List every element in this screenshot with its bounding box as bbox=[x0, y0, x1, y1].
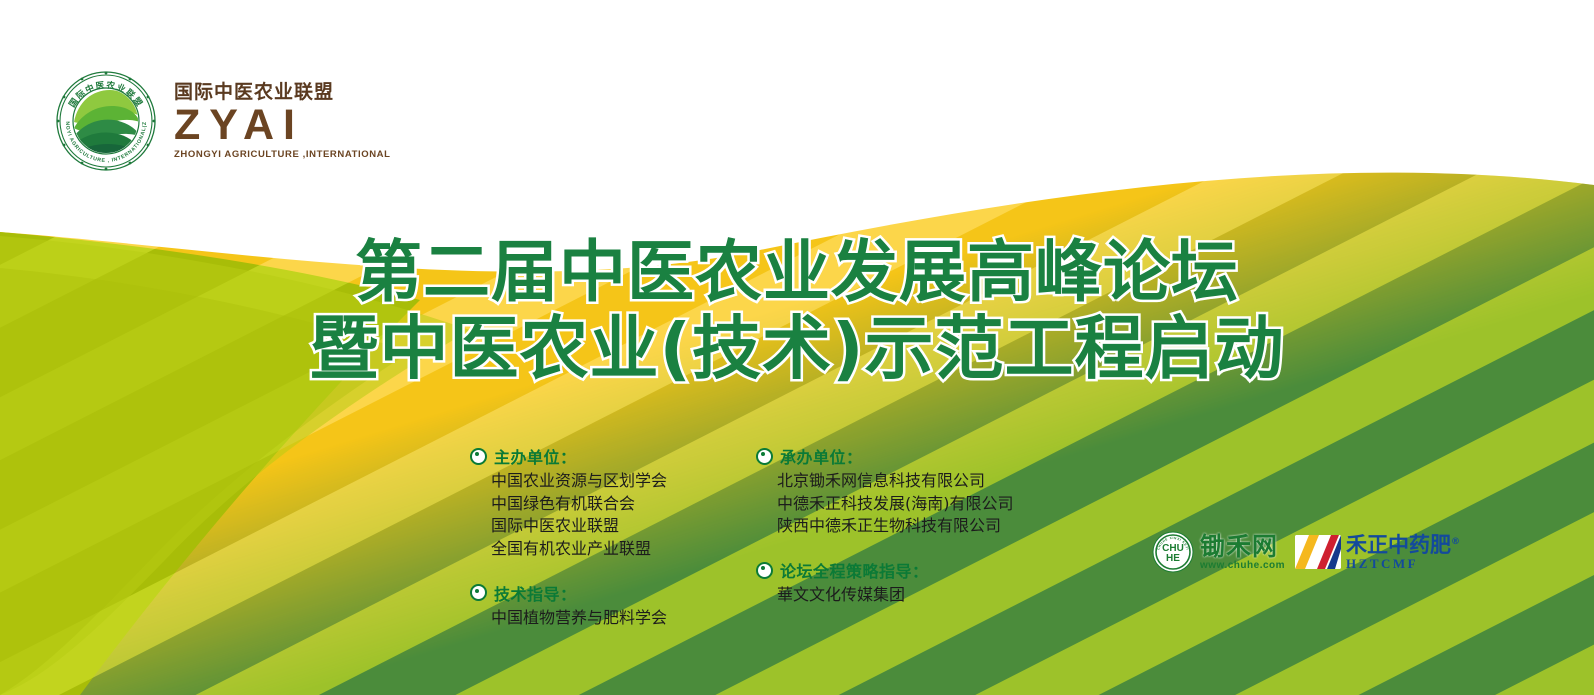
org-name-en: ZHONGYI AGRICULTURE ,INTERNATIONAL bbox=[174, 150, 391, 160]
credit-group-strategic-guidance: 论坛全程策略指导： 華文文化传媒集团 bbox=[756, 558, 1046, 607]
bullet-icon bbox=[470, 584, 487, 601]
credit-heading-row: 承办单位： bbox=[756, 444, 1046, 468]
list-item: 全国有机农业产业联盟 bbox=[491, 538, 720, 561]
org-name-cn: 国际中医农业联盟 bbox=[174, 83, 391, 102]
credit-item-list: 華文文化传媒集团 bbox=[756, 584, 1046, 607]
list-item: 中国植物营养与肥料学会 bbox=[491, 607, 720, 630]
credit-item-list: 北京锄禾网信息科技有限公司 中德禾正科技发展(海南)有限公司 陕西中德禾正生物科… bbox=[756, 470, 1046, 538]
hztcmf-wordmark: 禾正中药肥® HZTCMF bbox=[1346, 535, 1460, 570]
sponsor-logo-row: CHU HE CHUHE XINXI KEJI 锄禾网 www.chuhe.co… bbox=[1152, 529, 1516, 575]
credit-heading-row: 技术指导： bbox=[470, 581, 720, 605]
bullet-icon bbox=[756, 448, 773, 465]
organization-wordmark: 国际中医农业联盟 ZYAI ZHONGYI AGRICULTURE ,INTER… bbox=[174, 83, 391, 159]
credit-heading-row: 主办单位： bbox=[470, 444, 720, 468]
registered-mark: ® bbox=[1451, 537, 1460, 547]
list-item: 国际中医农业联盟 bbox=[491, 515, 720, 538]
chuhe-circular-logo-icon: CHU HE CHUHE XINXI KEJI bbox=[1152, 531, 1194, 573]
bullet-icon bbox=[470, 448, 487, 465]
list-item: 陕西中德禾正生物科技有限公司 bbox=[777, 515, 1046, 538]
credit-group-technical-guidance: 技术指导： 中国植物营养与肥料学会 bbox=[470, 581, 720, 630]
credit-group-co-organizers: 承办单位： 北京锄禾网信息科技有限公司 中德禾正科技发展(海南)有限公司 陕西中… bbox=[756, 444, 1046, 538]
list-item: 中国绿色有机联合会 bbox=[491, 493, 720, 516]
chuhe-url: www.chuhe.com bbox=[1200, 561, 1285, 571]
hztcmf-name-en: HZTCMF bbox=[1346, 557, 1460, 570]
organization-logo-lockup: 国际中医农业联盟 ZHONGYI AGRICULTURE , INTERNATI… bbox=[52, 66, 391, 176]
event-banner: 国际中医农业联盟 ZHONGYI AGRICULTURE , INTERNATI… bbox=[0, 0, 1594, 695]
list-item: 中国农业资源与区划学会 bbox=[491, 470, 720, 493]
list-item: 北京锄禾网信息科技有限公司 bbox=[777, 470, 1046, 493]
credit-item-list: 中国农业资源与区划学会 中国绿色有机联合会 国际中医农业联盟 全国有机农业产业联… bbox=[470, 470, 720, 561]
credits-block: 主办单位： 中国农业资源与区划学会 中国绿色有机联合会 国际中医农业联盟 全国有… bbox=[470, 444, 1046, 630]
org-acronym: ZYAI bbox=[174, 105, 391, 146]
svg-text:HE: HE bbox=[1166, 553, 1180, 564]
credit-item-list: 中国植物营养与肥料学会 bbox=[470, 607, 720, 630]
chuhe-wordmark: 锄禾网 www.chuhe.com bbox=[1200, 534, 1285, 571]
credits-column-right: 承办单位： 北京锄禾网信息科技有限公司 中德禾正科技发展(海南)有限公司 陕西中… bbox=[756, 444, 1046, 630]
hztcmf-name: 禾正中药肥® bbox=[1346, 535, 1460, 556]
credit-heading-row: 论坛全程策略指导： bbox=[756, 558, 1046, 582]
credit-heading: 承办单位： bbox=[780, 444, 863, 468]
sponsor-logo-tree-root: ® bbox=[1470, 529, 1516, 575]
credit-heading: 技术指导： bbox=[494, 581, 577, 605]
sponsor-logo-hztcmf: 禾正中药肥® HZTCMF bbox=[1295, 535, 1460, 570]
chuhe-name: 锄禾网 bbox=[1200, 534, 1285, 559]
credits-column-left: 主办单位： 中国农业资源与区划学会 中国绿色有机联合会 国际中医农业联盟 全国有… bbox=[470, 444, 720, 630]
list-item: 華文文化传媒集团 bbox=[777, 584, 1046, 607]
hztcmf-name-text: 禾正中药肥 bbox=[1346, 533, 1451, 557]
credit-heading: 论坛全程策略指导： bbox=[780, 558, 929, 582]
bullet-icon bbox=[756, 562, 773, 579]
sponsor-logo-chuhe: CHU HE CHUHE XINXI KEJI 锄禾网 www.chuhe.co… bbox=[1152, 531, 1285, 573]
zyai-emblem-icon: 国际中医农业联盟 ZHONGYI AGRICULTURE , INTERNATI… bbox=[52, 66, 160, 176]
list-item: 中德禾正科技发展(海南)有限公司 bbox=[777, 493, 1046, 516]
hz-stripe-logo-icon bbox=[1295, 535, 1341, 569]
credit-heading: 主办单位： bbox=[494, 444, 577, 468]
credit-group-organizers: 主办单位： 中国农业资源与区划学会 中国绿色有机联合会 国际中医农业联盟 全国有… bbox=[470, 444, 720, 561]
